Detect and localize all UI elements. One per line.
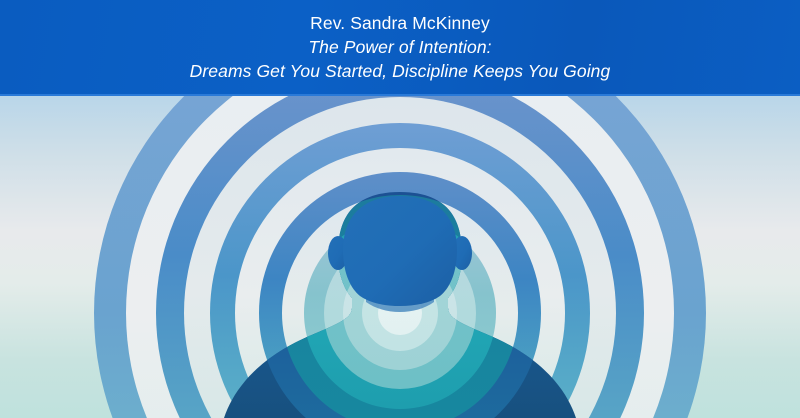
head-shape — [343, 196, 457, 306]
speaker-name: Rev. Sandra McKinney — [310, 12, 490, 35]
title-banner: Rev. Sandra McKinney The Power of Intent… — [0, 0, 800, 96]
hero-illustration — [0, 96, 800, 418]
promo-graphic: Rev. Sandra McKinney The Power of Intent… — [0, 0, 800, 418]
talk-subtitle: The Power of Intention: — [308, 36, 491, 59]
illustration-svg — [0, 96, 800, 418]
talk-tagline: Dreams Get You Started, Discipline Keeps… — [190, 60, 611, 83]
